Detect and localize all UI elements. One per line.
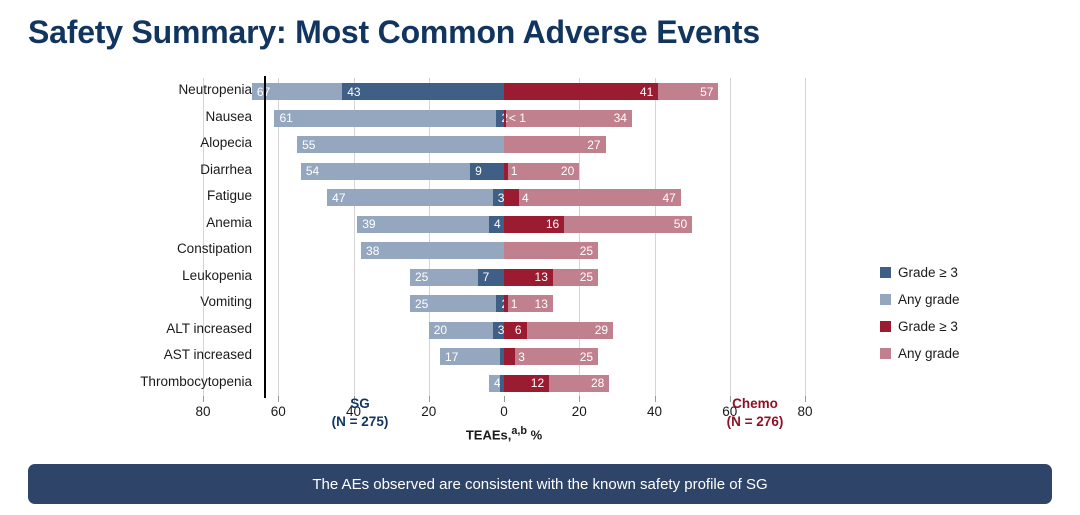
chemo-grade3-segment: 4 bbox=[504, 189, 519, 206]
bar-row: Diarrhea549201 bbox=[264, 158, 866, 185]
bar-value-label: 16 bbox=[546, 218, 559, 230]
category-label: Vomiting bbox=[32, 294, 252, 309]
bar-value-label: 28 bbox=[591, 377, 604, 389]
sg-grade3-segment: 2 bbox=[496, 110, 504, 127]
category-label: ALT increased bbox=[32, 321, 252, 336]
chemo-grade3-segment: 13 bbox=[504, 269, 553, 286]
bar-value-label: < 1 bbox=[509, 112, 526, 124]
bar-value-label: 47 bbox=[332, 192, 345, 204]
sg-any-grade-segment: 39 bbox=[357, 216, 504, 233]
legend-label: Any grade bbox=[898, 292, 960, 307]
bar-value-label: 20 bbox=[434, 324, 447, 336]
x-tick-label: 0 bbox=[500, 404, 508, 419]
bar-value-label: 27 bbox=[587, 139, 600, 151]
sg-any-grade-segment: 38 bbox=[361, 242, 504, 259]
category-label: Thrombocytopenia bbox=[32, 374, 252, 389]
x-tick-label: 40 bbox=[647, 404, 662, 419]
bar-value-label: 25 bbox=[580, 245, 593, 257]
x-tick-label: 60 bbox=[271, 404, 286, 419]
bar-value-label: 50 bbox=[674, 218, 687, 230]
bar-value-label: 1 bbox=[511, 298, 518, 310]
legend-label: Grade ≥ 3 bbox=[898, 265, 958, 280]
bar-value-label: 4 bbox=[494, 218, 501, 230]
x-tickmark bbox=[504, 396, 505, 402]
chemo-grade3-segment: 16 bbox=[504, 216, 564, 233]
left-arm-count: (N = 275) bbox=[300, 413, 420, 431]
footer-text: The AEs observed are consistent with the… bbox=[312, 476, 767, 493]
bar-row: Fatigue473474 bbox=[264, 184, 866, 211]
left-arm-annotation: SG (N = 275) bbox=[300, 395, 420, 431]
left-arm-name: SG bbox=[300, 395, 420, 413]
bar-row: Neutropenia67435741 bbox=[264, 78, 866, 105]
bar-value-label: 29 bbox=[595, 324, 608, 336]
bar-value-label: 17 bbox=[445, 351, 458, 363]
x-axis-title-unit: % bbox=[527, 427, 542, 442]
bar-value-label: 61 bbox=[279, 112, 292, 124]
sg-any-grade-segment: 61 bbox=[274, 110, 504, 127]
right-arm-annotation: Chemo (N = 276) bbox=[690, 395, 820, 431]
x-tickmark bbox=[203, 396, 204, 402]
sg-grade3-segment: 3 bbox=[493, 322, 504, 339]
bar-value-label: 9 bbox=[475, 165, 482, 177]
legend-item[interactable]: Any grade bbox=[880, 292, 1060, 307]
bar-row: Anemia3945016 bbox=[264, 211, 866, 238]
legend-swatch-icon bbox=[880, 294, 891, 305]
sg-grade3-segment: 7 bbox=[478, 269, 504, 286]
bar-row: Alopecia5527 bbox=[264, 131, 866, 158]
x-tickmark bbox=[429, 396, 430, 402]
legend-swatch-icon bbox=[880, 321, 891, 332]
x-tick-label: 20 bbox=[572, 404, 587, 419]
right-arm-count: (N = 276) bbox=[690, 413, 820, 431]
x-tick-label: 20 bbox=[421, 404, 436, 419]
bar-value-label: 12 bbox=[531, 377, 544, 389]
sg-grade3-segment: 4 bbox=[489, 216, 504, 233]
chemo-any-grade-segment: 27 bbox=[504, 136, 606, 153]
bar-value-label: 41 bbox=[640, 86, 653, 98]
legend-label: Any grade bbox=[898, 346, 960, 361]
legend-item[interactable]: Grade ≥ 3 bbox=[880, 265, 1060, 280]
bar-value-label: 25 bbox=[580, 351, 593, 363]
legend-swatch-icon bbox=[880, 348, 891, 359]
legend-label: Grade ≥ 3 bbox=[898, 319, 958, 334]
footer-banner: The AEs observed are consistent with the… bbox=[28, 464, 1052, 504]
bar-row: Nausea61234< 1 bbox=[264, 105, 866, 132]
bar-value-label: 25 bbox=[415, 271, 428, 283]
sg-any-grade-segment: 55 bbox=[297, 136, 504, 153]
sg-any-grade-segment: 25 bbox=[410, 295, 504, 312]
bar-value-label: 57 bbox=[700, 86, 713, 98]
bar-value-label: 34 bbox=[614, 112, 627, 124]
x-axis-title-base: TEAEs, bbox=[466, 427, 512, 442]
bar-row: Vomiting252131 bbox=[264, 290, 866, 317]
bar-value-label: 13 bbox=[535, 298, 548, 310]
sg-grade3-segment: 2 bbox=[496, 295, 504, 312]
x-tickmark bbox=[278, 396, 279, 402]
category-label: Diarrhea bbox=[32, 162, 252, 177]
bar-value-label: 1 bbox=[511, 165, 518, 177]
bar-value-label: 38 bbox=[366, 245, 379, 257]
bar-row: Constipation3825 bbox=[264, 237, 866, 264]
bar-value-label: 13 bbox=[535, 271, 548, 283]
sg-grade3-segment: 9 bbox=[470, 163, 504, 180]
bar-row: Leukopenia2572513 bbox=[264, 264, 866, 291]
category-label: AST increased bbox=[32, 347, 252, 362]
bar-value-label: 6 bbox=[515, 324, 522, 336]
sg-any-grade-segment: 47 bbox=[327, 189, 504, 206]
sg-grade3-segment: 3 bbox=[493, 189, 504, 206]
bar-value-label: 47 bbox=[662, 192, 675, 204]
sg-grade3-segment: 43 bbox=[342, 83, 504, 100]
category-label: Nausea bbox=[32, 109, 252, 124]
category-label: Anemia bbox=[32, 215, 252, 230]
chemo-grade3-segment: 6 bbox=[504, 322, 527, 339]
category-label: Constipation bbox=[32, 241, 252, 256]
x-axis-title: TEAEs,a,b % bbox=[466, 425, 542, 442]
x-axis-title-superscript: a,b bbox=[511, 425, 527, 437]
chemo-grade3-segment: 1 bbox=[504, 295, 508, 312]
chemo-any-grade-segment: 25 bbox=[504, 242, 598, 259]
zero-axis-line bbox=[264, 76, 266, 398]
bar-value-label: 3 bbox=[518, 351, 525, 363]
category-label: Leukopenia bbox=[32, 268, 252, 283]
bar-value-label: 55 bbox=[302, 139, 315, 151]
legend-swatch-icon bbox=[880, 267, 891, 278]
page-title: Safety Summary: Most Common Adverse Even… bbox=[28, 14, 760, 51]
sg-any-grade-segment: 17 bbox=[440, 348, 504, 365]
bar-row: ALT increased203296 bbox=[264, 317, 866, 344]
chemo-grade3-segment: < 1 bbox=[504, 110, 506, 127]
chemo-grade3-segment: 12 bbox=[504, 375, 549, 392]
x-tickmark bbox=[655, 396, 656, 402]
chart-container: Neutropenia67435741Nausea61234< 1Alopeci… bbox=[0, 70, 1080, 450]
bar-row: Thrombocytopenia412812 bbox=[264, 370, 866, 397]
bar-value-label: 4 bbox=[522, 192, 529, 204]
legend-item[interactable]: Grade ≥ 3 bbox=[880, 319, 1060, 334]
legend-item[interactable]: Any grade bbox=[880, 346, 1060, 361]
chemo-grade3-segment: 1 bbox=[504, 163, 508, 180]
right-arm-name: Chemo bbox=[690, 395, 820, 413]
category-label: Alopecia bbox=[32, 135, 252, 150]
bar-value-label: 25 bbox=[415, 298, 428, 310]
bar-value-label: 39 bbox=[362, 218, 375, 230]
x-tick-label: 80 bbox=[195, 404, 210, 419]
chemo-grade3-segment: 3 bbox=[504, 348, 515, 365]
bar-value-label: 7 bbox=[483, 271, 490, 283]
chemo-grade3-segment: 41 bbox=[504, 83, 658, 100]
plot-area: Neutropenia67435741Nausea61234< 1Alopeci… bbox=[264, 78, 866, 396]
chemo-any-grade-segment: 47 bbox=[504, 189, 681, 206]
bar-value-label: 20 bbox=[561, 165, 574, 177]
bar-value-label: 25 bbox=[580, 271, 593, 283]
bar-value-label: 54 bbox=[306, 165, 319, 177]
bar-row: AST increased171253 bbox=[264, 343, 866, 370]
chart-legend: Grade ≥ 3Any gradeGrade ≥ 3Any grade bbox=[880, 265, 1060, 373]
bar-value-label: 43 bbox=[347, 86, 360, 98]
x-tickmark bbox=[579, 396, 580, 402]
category-label: Fatigue bbox=[32, 188, 252, 203]
category-label: Neutropenia bbox=[32, 82, 252, 97]
